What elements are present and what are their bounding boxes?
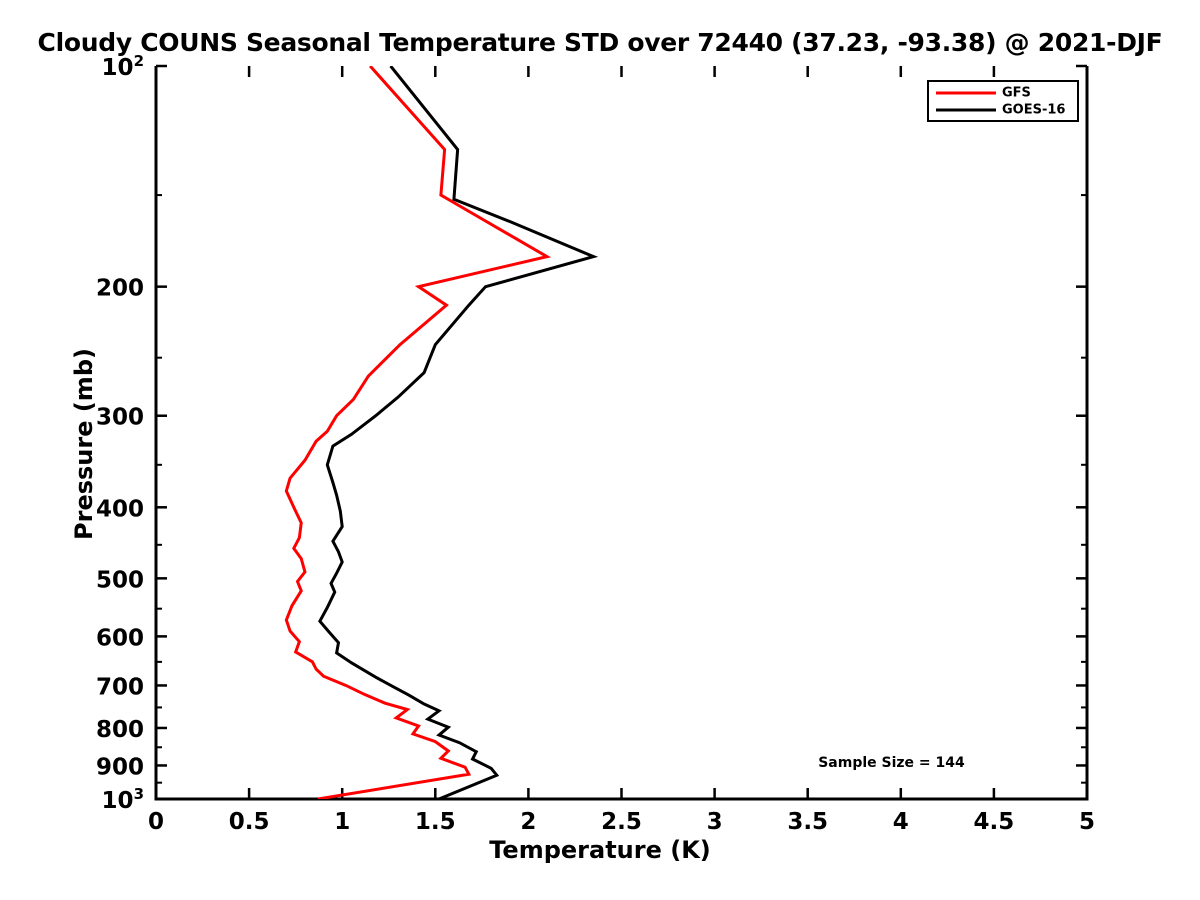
axis-frame bbox=[156, 66, 1087, 799]
y-tick-label: 400 bbox=[96, 496, 144, 522]
series-line-gfs bbox=[286, 66, 547, 799]
legend-label-goes-16: GOES-16 bbox=[1002, 103, 1065, 118]
sample-size: Sample Size = 144 bbox=[818, 755, 965, 771]
x-tick-label: 3.5 bbox=[787, 809, 828, 835]
x-tick-label: 1 bbox=[334, 809, 350, 835]
figure-canvas: Cloudy COUNS Seasonal Temperature STD ov… bbox=[0, 0, 1200, 900]
y-tick-label: 700 bbox=[96, 674, 144, 700]
x-tick-label: 2 bbox=[520, 809, 536, 835]
x-tick-label: 0.5 bbox=[229, 809, 270, 835]
x-tick-label: 2.5 bbox=[601, 809, 642, 835]
x-axis-label: Temperature (K) bbox=[0, 836, 1200, 864]
y-tick-label: 102 bbox=[102, 52, 144, 81]
y-tick-label: 200 bbox=[96, 276, 144, 302]
y-tick-label: 300 bbox=[96, 405, 144, 431]
series-line-goes-16 bbox=[320, 66, 594, 799]
x-tick-label: 1.5 bbox=[415, 809, 456, 835]
x-tick-label: 4.5 bbox=[974, 809, 1015, 835]
y-tick-label: 800 bbox=[96, 717, 144, 743]
y-tick-label: 500 bbox=[96, 567, 144, 593]
x-tick-label: 0 bbox=[148, 809, 164, 835]
y-tick-label: 900 bbox=[96, 754, 144, 780]
y-tick-label: 103 bbox=[102, 785, 144, 814]
chart-plot-area: 00.511.522.533.544.551022003004005006007… bbox=[0, 0, 1200, 900]
x-tick-label: 5 bbox=[1079, 809, 1095, 835]
legend-label-gfs: GFS bbox=[1002, 86, 1031, 101]
y-tick-label: 600 bbox=[96, 625, 144, 651]
y-axis-label: Pressure (mb) bbox=[70, 314, 98, 574]
x-tick-label: 4 bbox=[893, 809, 909, 835]
x-tick-label: 3 bbox=[707, 809, 723, 835]
